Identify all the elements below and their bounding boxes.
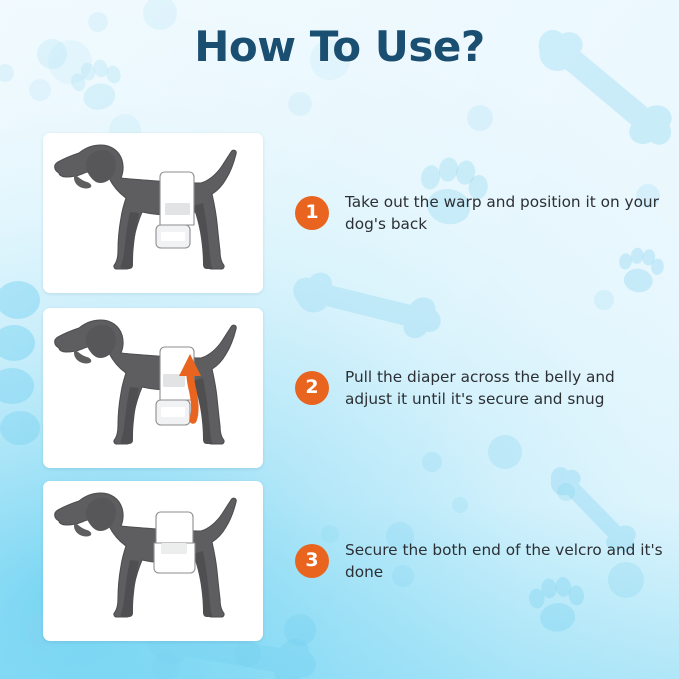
- steps-list: 1 Take out the warp and position it on y…: [0, 0, 679, 679]
- step-body: 2 Pull the diaper across the belly and a…: [295, 308, 667, 468]
- step-row: 3 Secure the both end of the velcro and …: [0, 481, 679, 641]
- step-row: 2 Pull the diaper across the belly and a…: [0, 308, 679, 468]
- how-to-use-infographic: How To Use?: [0, 0, 679, 679]
- step-row: 1 Take out the warp and position it on y…: [0, 133, 679, 293]
- diaper-wrap: [156, 172, 194, 248]
- step-illustration-card-2: [43, 308, 263, 468]
- dog-silhouette: [55, 145, 236, 269]
- dog-silhouette: [55, 320, 236, 444]
- dog-silhouette: [55, 493, 236, 617]
- step-illustration-card-1: [43, 133, 263, 293]
- step-number-badge: 3: [295, 544, 329, 578]
- step-body: 1 Take out the warp and position it on y…: [295, 133, 667, 293]
- step-description: Secure the both end of the velcro and it…: [345, 539, 663, 583]
- step-number-badge: 1: [295, 196, 329, 230]
- step-description: Pull the diaper across the belly and adj…: [345, 366, 663, 410]
- step-description: Take out the warp and position it on you…: [345, 191, 663, 235]
- step-number-badge: 2: [295, 371, 329, 405]
- diaper-wrap: [154, 512, 195, 573]
- step-body: 3 Secure the both end of the velcro and …: [295, 481, 667, 641]
- step-illustration-card-3: [43, 481, 263, 641]
